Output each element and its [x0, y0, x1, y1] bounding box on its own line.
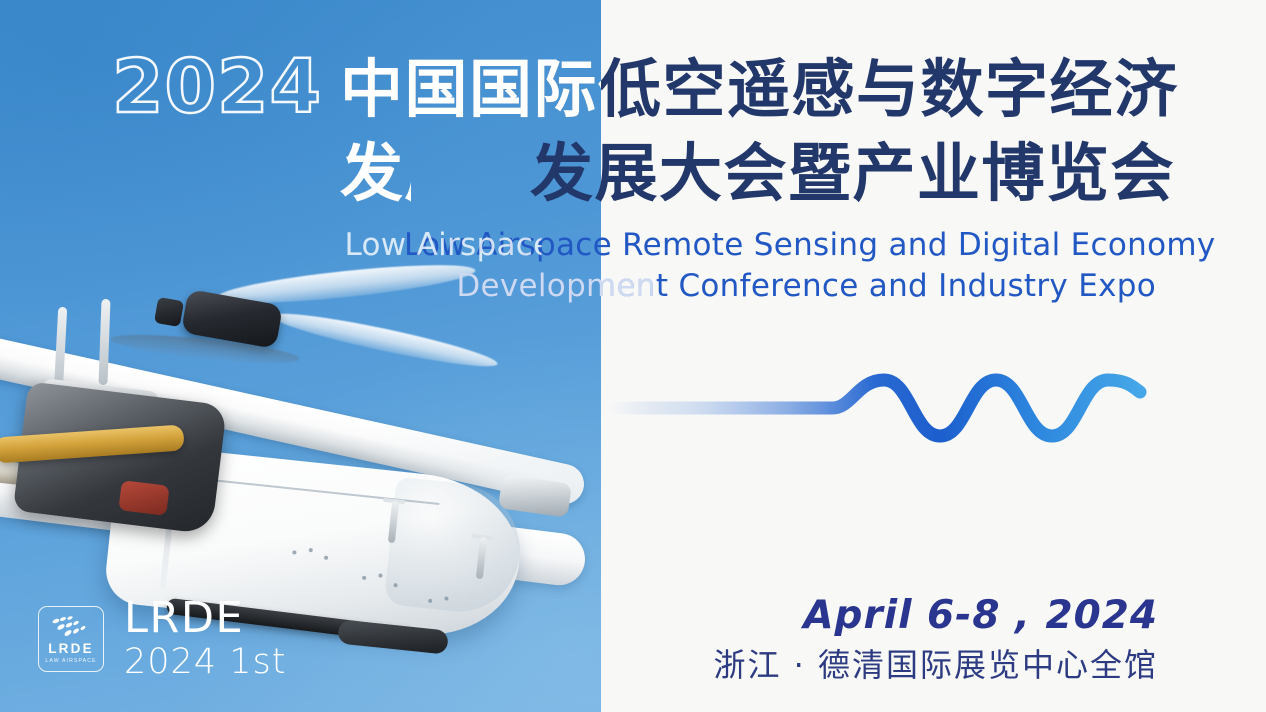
- uav-aircraft-illustration: [0, 255, 601, 655]
- motor-cap: [154, 297, 184, 327]
- event-venue: 浙江 · 德清国际展览中心全馆: [713, 646, 1158, 684]
- lrde-logo-block: LRDE LAW AIRSPACE LRDE 2024 1st: [38, 597, 286, 680]
- logo-mark-subtitle: LAW AIRSPACE: [45, 659, 96, 664]
- date-venue-block: April 6-8 , 2024 浙江 · 德清国际展览中心全馆: [713, 594, 1158, 684]
- spinning-rotor-right: [270, 305, 500, 374]
- signal-wave-graphic: [600, 350, 1200, 465]
- lrde-logo-mark: LRDE LAW AIRSPACE: [38, 606, 104, 672]
- logo-brand-name: LRDE: [124, 597, 286, 640]
- wave-svg: [600, 350, 1200, 465]
- logo-mark-name: LRDE: [48, 642, 94, 656]
- conference-banner: 2024 中国国际低空遥感与数字经济 中国国际低空遥感与数字经济 发展大会暨产业…: [0, 0, 1266, 712]
- swoosh-icon: [50, 615, 92, 639]
- engine-red-component: [118, 480, 169, 516]
- event-date: April 6-8 , 2024: [713, 594, 1158, 638]
- lrde-logo-text: LRDE 2024 1st: [124, 597, 286, 680]
- logo-edition: 2024 1st: [124, 645, 286, 680]
